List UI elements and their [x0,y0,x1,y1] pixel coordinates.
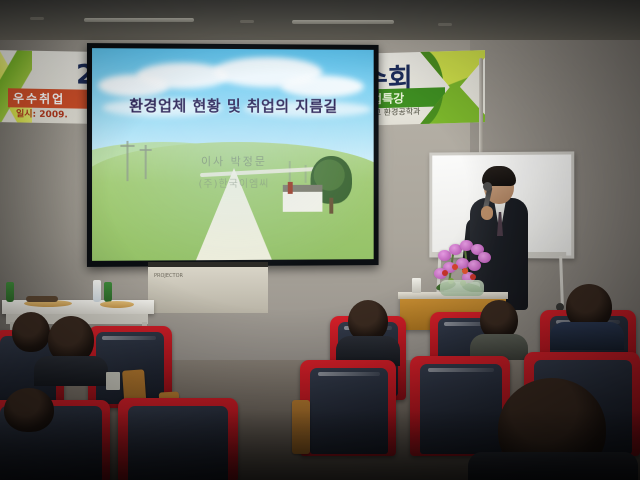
speaker-hand [481,206,493,220]
projection-screen: 환경업체 현황 및 취업의 지름길 이사 박정문 (주)한국이엠씨 [87,43,379,267]
flower-arrangement [436,262,490,296]
seat-highlight [318,372,380,376]
seat-cushion [420,364,502,454]
seat-armrest [292,400,310,454]
microphone-head-icon [483,182,492,191]
ceiling-vent [30,17,44,20]
handout-paper [106,372,120,390]
cabinet-label: PROJECTOR [154,273,183,279]
wall-pipe [479,58,483,154]
white-bottle [93,280,101,302]
wall-cabinet: PROJECTOR [148,262,268,313]
green-bottle [6,282,14,302]
auditorium-photo: 200 우수취업 일시: 2009. 수회 취업특강 대학교 환경공학과 [0,0,640,480]
audience-head [12,312,50,352]
slide-tree-trunk [329,198,333,214]
audience-shoulders [468,452,638,480]
cup [412,278,421,293]
dark-tray [26,296,58,302]
projected-slide: 환경업체 현황 및 취업의 지름길 이사 박정문 (주)한국이엠씨 [92,48,374,261]
slide-company: (주)한국이엠씨 [92,175,374,190]
ceiling-vent [240,20,254,23]
snack-plate [100,301,134,308]
audience-head [4,388,54,432]
seat-highlight [102,336,156,340]
slide-title: 환경업체 현황 및 취업의 지름길 [92,95,374,117]
seat-highlight [428,368,494,372]
audience-shoulders [550,322,624,350]
audience-shoulders [34,356,108,386]
slide-presenter: 이사 박정문 [92,153,374,169]
seat-cushion [128,406,228,480]
green-bottle [104,282,112,302]
ceiling-light-fixture [292,20,394,24]
ceiling-light-fixture [84,18,194,22]
ceiling-vent [438,23,452,26]
banner-date: 일시: 2009. [16,106,68,120]
seat-cushion [310,368,388,454]
